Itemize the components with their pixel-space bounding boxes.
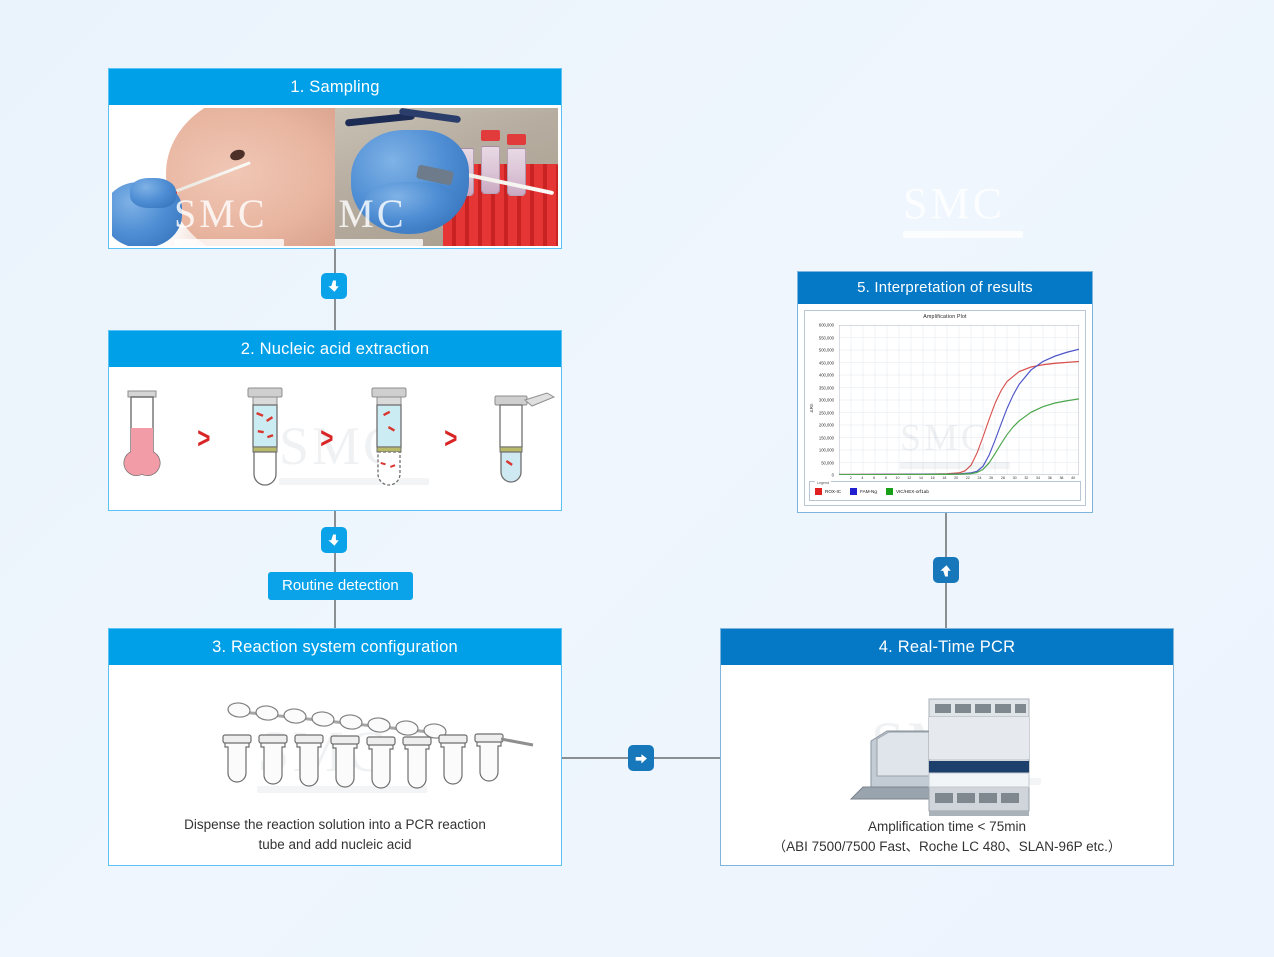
extraction-tube-sequence: > > xyxy=(109,367,561,510)
step-1-body: SMC xyxy=(109,105,561,249)
chevron-separator: > xyxy=(444,424,457,454)
pcr-strip-tubes-icon xyxy=(109,683,563,808)
step-3-caption-line-1: Dispense the reaction solution into a PC… xyxy=(109,815,561,835)
legend-swatch-vic xyxy=(886,488,893,495)
chart-x-tick: 24 xyxy=(977,476,981,480)
legend-swatch-fam xyxy=(850,488,857,495)
legend-swatch-rox xyxy=(815,488,822,495)
step-4-caption-line-1: Amplification time < 75min xyxy=(721,817,1173,837)
pcr-instrument-illustration xyxy=(721,675,1173,825)
step-2-body: SMC > xyxy=(109,367,561,510)
chart-x-tick: 6 xyxy=(873,476,875,480)
chart-y-tick: 0 xyxy=(832,473,834,478)
chart-svg xyxy=(839,325,1079,475)
chart-x-tick: 14 xyxy=(919,476,923,480)
arrow-down-icon xyxy=(327,533,342,548)
arrow-down-2-button[interactable] xyxy=(321,527,347,553)
watermark-text: SMC xyxy=(903,182,1023,226)
pen-shape-2 xyxy=(399,108,461,123)
chart-legend-caption: Legend xyxy=(815,481,831,485)
step-5-body: Amplification Plot ΔRn 600,000550,000500… xyxy=(798,304,1092,512)
routine-detection-label: Routine detection xyxy=(268,572,413,600)
chart-x-tick: 2 xyxy=(850,476,852,480)
chart-x-tick: 22 xyxy=(966,476,970,480)
face-illustration xyxy=(166,108,335,246)
tube-wash-icon xyxy=(362,384,416,494)
step-4-caption: Amplification time < 75min （ABI 7500/750… xyxy=(721,817,1173,858)
step-card-sampling: 1. Sampling SMC xyxy=(108,68,562,249)
chart-y-tick: 600,000 xyxy=(819,323,834,328)
chart-y-tick: 300,000 xyxy=(819,398,834,403)
legend-item: VIC/HEX-orf1ab xyxy=(886,488,929,495)
step-card-extraction: 2. Nucleic acid extraction SMC > xyxy=(108,330,562,511)
rack-tube-cap xyxy=(507,134,526,145)
step-4-body: SMC xyxy=(721,665,1173,865)
chart-y-tick: 50,000 xyxy=(821,460,834,465)
tube-elution-icon xyxy=(485,384,555,494)
watermark-bar xyxy=(903,231,1023,238)
chart-x-tick: 8 xyxy=(885,476,887,480)
chart-title: Amplification Plot xyxy=(805,314,1085,320)
legend-label-rox: ROX-IC xyxy=(825,489,841,494)
watermark-bar xyxy=(335,239,423,246)
gloved-fingers-right xyxy=(365,182,457,230)
chart-x-tick: 30 xyxy=(1013,476,1017,480)
chart-y-tick: 250,000 xyxy=(819,410,834,415)
chart-y-tick: 500,000 xyxy=(819,348,834,353)
chart-y-tick: 400,000 xyxy=(819,373,834,378)
workflow-canvas: SMC Routine detection 1. Sampling xyxy=(0,0,1274,957)
rack-tube-cap xyxy=(481,130,500,141)
step-card-reaction-setup: 3. Reaction system configuration SMC xyxy=(108,628,562,866)
arrow-down-icon xyxy=(327,279,342,294)
chart-x-tick: 28 xyxy=(1001,476,1005,480)
chart-y-tick: 150,000 xyxy=(819,435,834,440)
arrow-right-button[interactable] xyxy=(628,745,654,771)
chevron-separator: > xyxy=(197,424,210,454)
chart-y-tick: 350,000 xyxy=(819,385,834,390)
legend-item: ROX-IC xyxy=(815,488,841,495)
rack-tube xyxy=(481,146,500,194)
chart-x-tick: 20 xyxy=(954,476,958,480)
arrow-up-button[interactable] xyxy=(933,557,959,583)
chart-x-tick: 38 xyxy=(1059,476,1063,480)
legend-item: FAM-Ng xyxy=(850,488,877,495)
chart-y-tick: 100,000 xyxy=(819,448,834,453)
chart-x-tick: 10 xyxy=(896,476,900,480)
step-card-realtime-pcr: 4. Real-Time PCR SMC xyxy=(720,628,1174,866)
chart-x-tick: 12 xyxy=(907,476,911,480)
chart-legend: Legend ROX-IC FAM-Ng VIC/HEX-orf1ab xyxy=(809,481,1081,501)
chart-y-tick: 550,000 xyxy=(819,335,834,340)
pcr-instrument-icon xyxy=(721,675,1175,827)
chart-x-tick: 36 xyxy=(1048,476,1052,480)
chart-x-tick: 18 xyxy=(942,476,946,480)
chart-y-axis-label: ΔRn xyxy=(809,404,814,413)
arrow-right-icon xyxy=(634,751,649,766)
chart-x-tick: 26 xyxy=(989,476,993,480)
watermark-background: SMC xyxy=(903,182,1023,238)
pcr-strip-tubes-illustration xyxy=(109,683,561,803)
photo-nasal-swab: SMC xyxy=(112,108,335,246)
arrow-up-icon xyxy=(939,563,954,578)
tube-lysate-icon xyxy=(115,384,169,494)
chart-plot-area: 600,000550,000500,000450,000400,000350,0… xyxy=(839,325,1079,475)
chart-y-tick: 450,000 xyxy=(819,360,834,365)
arrow-down-1-button[interactable] xyxy=(321,273,347,299)
step-2-title: 2. Nucleic acid extraction xyxy=(109,331,561,367)
chart-x-tick: 4 xyxy=(861,476,863,480)
tube-binding-icon xyxy=(238,384,292,494)
photo-sample-tubes: SMC xyxy=(335,108,558,246)
step-3-body: SMC xyxy=(109,665,561,865)
chart-y-tick: 200,000 xyxy=(819,423,834,428)
step-card-interpretation: 5. Interpretation of results Amplificati… xyxy=(797,271,1093,513)
step-1-title: 1. Sampling xyxy=(109,69,561,105)
legend-label-fam: FAM-Ng xyxy=(860,489,877,494)
chevron-separator: > xyxy=(320,424,333,454)
step-4-title: 4. Real-Time PCR xyxy=(721,629,1173,665)
chart-x-tick: 34 xyxy=(1036,476,1040,480)
sampling-photo-row: SMC xyxy=(112,108,558,246)
chart-x-tick: 16 xyxy=(931,476,935,480)
gloved-fingers-left xyxy=(130,178,176,208)
legend-label-vic: VIC/HEX-orf1ab xyxy=(896,489,929,494)
chart-x-tick: 32 xyxy=(1024,476,1028,480)
step-3-caption: Dispense the reaction solution into a PC… xyxy=(109,815,561,856)
step-5-title: 5. Interpretation of results xyxy=(798,272,1092,304)
step-3-caption-line-2: tube and add nucleic acid xyxy=(109,835,561,855)
chart-x-tick: 40 xyxy=(1071,476,1075,480)
amplification-chart: Amplification Plot ΔRn 600,000550,000500… xyxy=(804,310,1086,506)
step-3-title: 3. Reaction system configuration xyxy=(109,629,561,665)
step-4-caption-line-2: （ABI 7500/7500 Fast、Roche LC 480、SLAN-96… xyxy=(721,837,1173,857)
